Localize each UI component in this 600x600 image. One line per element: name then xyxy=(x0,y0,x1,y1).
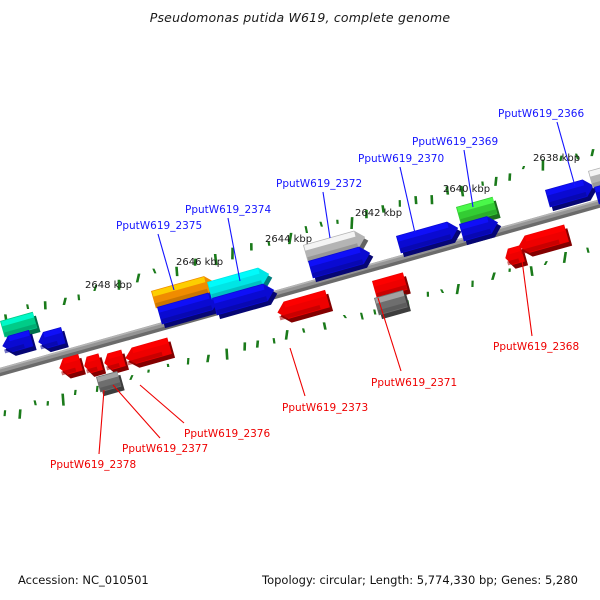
gene-label-pputw619-2375[interactable]: PputW619_2375 xyxy=(116,220,202,232)
leader-line xyxy=(400,167,415,233)
gene-label-pputw619-2368[interactable]: PputW619_2368 xyxy=(493,341,579,353)
axis-tick-label: 2640 kbp xyxy=(443,184,490,196)
genome-viewer: Pseudomonas putida W619, complete genome… xyxy=(0,0,600,600)
gene-label-pputw619-2369[interactable]: PputW619_2369 xyxy=(412,136,498,148)
gene-label-pputw619-2372[interactable]: PputW619_2372 xyxy=(276,178,362,190)
genome-map-canvas xyxy=(0,0,600,600)
axis-tick-label: 2648 kbp xyxy=(85,280,132,292)
gene-label-pputw619-2373[interactable]: PputW619_2373 xyxy=(282,402,368,414)
leader-line xyxy=(99,390,104,454)
gene-red-small-2[interactable] xyxy=(82,353,106,379)
leader-line xyxy=(113,385,160,438)
genome-stats-text: Topology: circular; Length: 5,774,330 bp… xyxy=(262,573,578,587)
gene-label-pputw619-2376[interactable]: PputW619_2376 xyxy=(184,428,270,440)
gene-label-pputw619-2366[interactable]: PputW619_2366 xyxy=(498,108,584,120)
leader-line xyxy=(158,234,174,290)
gene-label-pputw619-2378[interactable]: PputW619_2378 xyxy=(50,459,136,471)
axis-tick-label: 2646 kbp xyxy=(176,257,223,269)
gene-label-pputw619-2371[interactable]: PputW619_2371 xyxy=(371,377,457,389)
axis-tick-label: 2642 kbp xyxy=(355,208,402,220)
gene-label-pputw619-2370[interactable]: PputW619_2370 xyxy=(358,153,444,165)
accession-text: Accession: NC_010501 xyxy=(18,573,149,587)
leader-line xyxy=(290,348,305,396)
leader-line xyxy=(228,218,240,281)
leader-line xyxy=(464,150,473,207)
gene-label-pputw619-2377[interactable]: PputW619_2377 xyxy=(122,443,208,455)
axis-tick-label: 2638 kbp xyxy=(533,153,580,165)
axis-tick-label: 2644 kbp xyxy=(265,234,312,246)
gene-label-pputw619-2374[interactable]: PputW619_2374 xyxy=(185,204,271,216)
leader-line xyxy=(323,192,330,238)
leader-line xyxy=(140,385,184,423)
